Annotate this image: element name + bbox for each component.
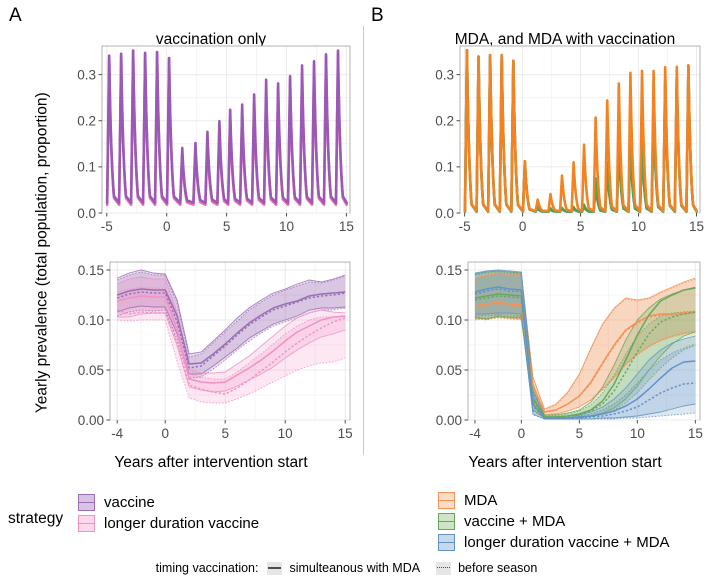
- x-tick-label: -5: [459, 219, 471, 234]
- legend-strategy-swatch-icon-0: [78, 494, 95, 511]
- x-tick-label: 0: [163, 219, 171, 234]
- y-tick-label: 0.10: [78, 313, 104, 328]
- legend-strategy-items: vaccinelonger duration vaccine: [78, 492, 259, 534]
- legend-strategy-row-0[interactable]: vaccine: [78, 492, 259, 513]
- x-axis-ticks: -4051015: [469, 420, 703, 441]
- y-axis-title: Yearly prevalence (total population, pro…: [34, 48, 50, 458]
- x-tick-label: 10: [630, 426, 645, 441]
- x-tick-label: 15: [339, 219, 354, 234]
- legend-mda-row-2[interactable]: longer duration vaccine + MDA: [438, 532, 670, 553]
- y-tick-label: 0.05: [78, 363, 104, 378]
- y-axis-ticks: 0.000.050.100.15: [436, 263, 468, 428]
- legend-mda-row-1[interactable]: vaccine + MDA: [438, 511, 670, 532]
- legend-mda-swatch-icon-2: [438, 534, 455, 551]
- line-style-dotted-icon: [436, 562, 451, 575]
- legend-timing-entry-before-season: before season: [436, 561, 537, 575]
- legend-strategy-label-1: longer duration vaccine: [104, 516, 259, 531]
- y-tick-label: 0.1: [435, 160, 454, 175]
- figure-root: A B vaccination only MDA, and MDA with v…: [0, 0, 709, 587]
- a-top-svg: 0.00.10.20.3-5051015: [72, 46, 350, 237]
- legend-strategy-label-0: vaccine: [104, 495, 155, 510]
- x-tick-label: -4: [111, 426, 123, 441]
- line-style-solid-icon: [267, 562, 282, 575]
- x-tick-label: -5: [101, 219, 113, 234]
- y-tick-label: 0.10: [436, 313, 462, 328]
- panel-letter-b: B: [371, 6, 384, 25]
- b-bottom-svg: 0.000.050.100.15-4051015: [430, 262, 700, 446]
- x-tick-label: 15: [338, 426, 353, 441]
- legend-title-strategy: strategy: [8, 511, 63, 527]
- chart-a-top-epidemic-peaks: 0.00.10.20.3-5051015: [72, 46, 350, 237]
- x-axis-ticks: -5051015: [459, 213, 704, 234]
- y-tick-label: 0.15: [78, 263, 104, 278]
- x-tick-label: 10: [279, 219, 294, 234]
- y-axis-ticks: 0.00.10.20.3: [77, 67, 102, 220]
- legend-mda-label-0: MDA: [464, 493, 497, 508]
- y-tick-label: 0.00: [436, 413, 462, 428]
- legend-mda-items: MDAvaccine + MDAlonger duration vaccine …: [438, 490, 670, 553]
- legend-mda-swatch-icon-0: [438, 492, 455, 509]
- y-tick-label: 0.0: [435, 206, 454, 221]
- x-tick-label: 10: [278, 426, 293, 441]
- x-axis-ticks: -5051015: [101, 213, 354, 234]
- y-tick-label: 0.3: [77, 67, 96, 82]
- x-tick-label: 5: [221, 426, 229, 441]
- y-axis-ticks: 0.000.050.100.15: [78, 263, 110, 428]
- legend-timing: timing vaccination: simulteanous with MD…: [0, 561, 709, 575]
- x-tick-label: 5: [576, 426, 584, 441]
- x-tick-label: 5: [577, 219, 585, 234]
- x-axis-title-b: Years after intervention start: [430, 455, 700, 471]
- x-axis-title-a: Years after intervention start: [72, 455, 350, 471]
- panel-letter-a: A: [9, 6, 22, 25]
- b-top-svg: 0.00.10.20.3-5051015: [430, 46, 700, 237]
- chart-b-bottom-yearly-prevalence: 0.000.050.100.15-4051015: [430, 262, 700, 446]
- x-tick-label: 0: [519, 219, 527, 234]
- x-axis-ticks: -4051015: [111, 420, 353, 441]
- y-tick-label: 0.1: [77, 160, 96, 175]
- legend-mda-row-0[interactable]: MDA: [438, 490, 670, 511]
- x-tick-label: 15: [688, 426, 703, 441]
- y-tick-label: 0.3: [435, 67, 454, 82]
- x-tick-label: 0: [518, 426, 526, 441]
- x-tick-label: 15: [689, 219, 704, 234]
- legend-timing-title: timing vaccination:: [156, 561, 259, 575]
- chart-b-top-epidemic-peaks: 0.00.10.20.3-5051015: [430, 46, 700, 237]
- legend-mda-label-1: vaccine + MDA: [464, 514, 565, 529]
- column-divider: [363, 26, 364, 455]
- x-tick-label: 5: [223, 219, 231, 234]
- legend-strategy-row-1[interactable]: longer duration vaccine: [78, 513, 259, 534]
- y-axis-ticks: 0.00.10.20.3: [435, 67, 460, 220]
- y-tick-label: 0.00: [78, 413, 104, 428]
- legend-timing-entry-simultaneous: simulteanous with MDA: [267, 561, 420, 575]
- legend-mda-label-2: longer duration vaccine + MDA: [464, 535, 670, 550]
- legend-strategy-swatch-icon-1: [78, 515, 95, 532]
- legend-timing-label-simultaneous: simulteanous with MDA: [289, 561, 420, 575]
- y-tick-label: 0.05: [436, 363, 462, 378]
- x-tick-label: 0: [161, 426, 169, 441]
- y-tick-label: 0.2: [77, 114, 96, 129]
- legend-mda-swatch-icon-1: [438, 513, 455, 530]
- y-tick-label: 0.2: [435, 114, 454, 129]
- x-tick-label: -4: [469, 426, 481, 441]
- y-tick-label: 0.15: [436, 263, 462, 278]
- x-tick-label: 10: [631, 219, 646, 234]
- legend-timing-label-before-season: before season: [458, 561, 537, 575]
- y-tick-label: 0.0: [77, 206, 96, 221]
- chart-a-bottom-yearly-prevalence: 0.000.050.100.15-4051015: [72, 262, 350, 446]
- a-bottom-svg: 0.000.050.100.15-4051015: [72, 262, 350, 446]
